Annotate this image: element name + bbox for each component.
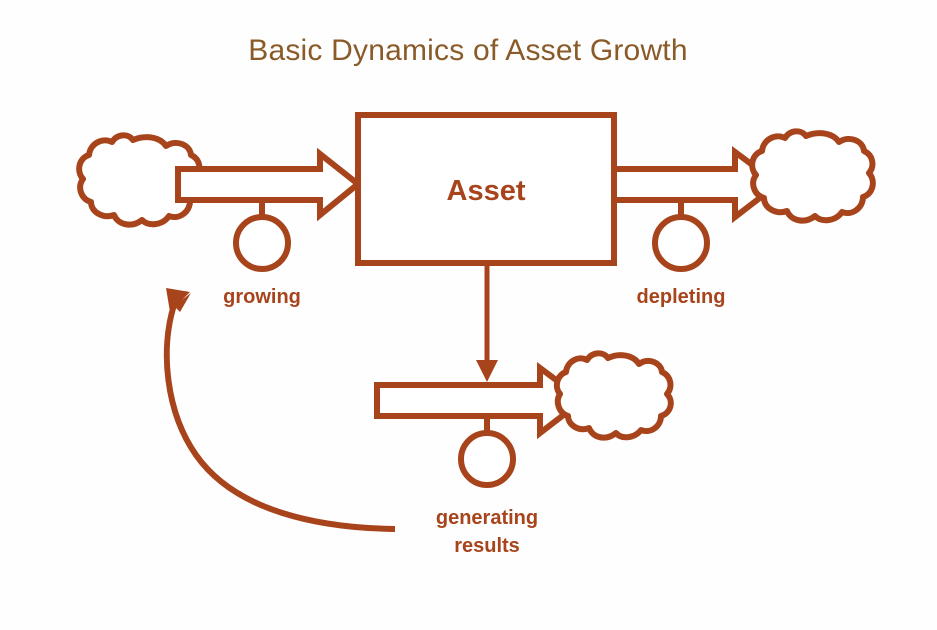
flow-arrow — [178, 154, 358, 215]
generating-results-label-line1: generating — [436, 507, 538, 529]
stock-to-results-link — [476, 263, 498, 382]
diagram-title: Basic Dynamics of Asset Growth — [248, 34, 687, 67]
depleting-flow-label: depleting — [637, 286, 726, 308]
valve-circle — [461, 433, 513, 485]
stock-label: Asset — [447, 175, 526, 207]
flow-arrow — [377, 368, 583, 433]
cloud-shape — [752, 131, 873, 220]
valve-circle — [236, 217, 288, 269]
valve-circle — [655, 217, 707, 269]
feedback-curve — [167, 305, 395, 529]
link-arrowhead — [476, 360, 498, 382]
cloud-shape — [557, 353, 671, 437]
generating-results-flow: generating results — [377, 368, 583, 557]
asset-stock: Asset — [358, 115, 614, 263]
generating-results-label-line2b: results — [454, 535, 520, 557]
diagram-canvas: Basic Dynamics of Asset Growth growing A… — [0, 0, 937, 630]
feedback-link — [166, 288, 395, 529]
asset-growth-diagram: Basic Dynamics of Asset Growth growing A… — [0, 0, 937, 630]
growing-flow: growing — [178, 154, 358, 308]
growing-flow-label: growing — [223, 286, 301, 308]
sink-cloud-bottom — [557, 353, 671, 437]
sink-cloud-right — [752, 131, 873, 220]
